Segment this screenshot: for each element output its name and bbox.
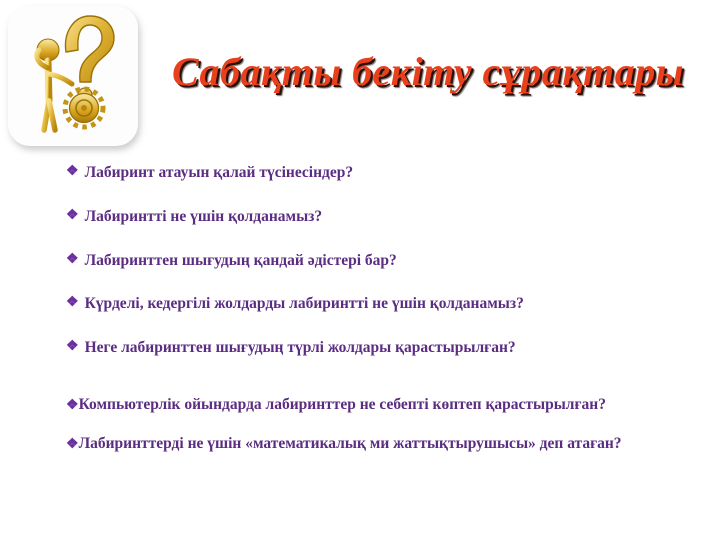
spacer: [66, 417, 676, 433]
gear-icon: [65, 89, 103, 127]
question-mark-shape: [66, 16, 114, 82]
list-item: ❖ Лабиринттен шығудың қандай әдістері ба…: [66, 251, 676, 271]
diamond-bullet-icon: ❖: [66, 207, 79, 225]
question-list: ❖ Лабиринт атауын қалай түсінесіндер? ❖ …: [66, 163, 676, 455]
question-text: Лабиринттен шығудың қандай әдістері бар?: [85, 251, 676, 271]
diamond-bullet-icon: ❖: [66, 338, 79, 356]
list-item: ❖ Лабиринт атауын қалай түсінесіндер?: [66, 163, 676, 183]
question-text: Лабиринтті не үшін қолданамыз?: [85, 207, 676, 227]
question-text: Лабиринттерді не үшін «математикалық ми …: [79, 435, 622, 452]
list-item: ❖Компьютерлік ойындарда лабиринттер не с…: [66, 394, 676, 416]
diamond-bullet-icon: ❖: [66, 163, 79, 181]
question-text: Неге лабиринттен шығудың түрлі жолдары қ…: [85, 338, 676, 358]
diamond-bullet-icon: ❖: [66, 398, 79, 413]
slide-canvas: Сабақты бекіту сұрақтары ❖ Лабиринт атау…: [0, 0, 720, 540]
question-text: Компьютерлік ойындарда лабиринттер не се…: [79, 396, 606, 413]
diamond-bullet-icon: ❖: [66, 294, 79, 312]
thinking-person-question-mark-icon: [8, 6, 138, 146]
list-item: ❖ Лабиринтті не үшін қолданамыз?: [66, 207, 676, 227]
list-item: ❖ Неге лабиринттен шығудың түрлі жолдары…: [66, 338, 676, 358]
slide-title: Сабақты бекіту сұрақтары: [150, 48, 706, 95]
question-text: Күрделі, кедергілі жолдарды лабиринтті н…: [85, 294, 676, 314]
list-item: ❖Лабиринттерді не үшін «математикалық ми…: [66, 433, 676, 455]
spacer: [66, 382, 676, 394]
diamond-bullet-icon: ❖: [66, 437, 79, 452]
question-illustration-card: [8, 6, 138, 146]
list-item: ❖ Күрделі, кедергілі жолдарды лабиринтті…: [66, 294, 676, 314]
question-text: Лабиринт атауын қалай түсінесіндер?: [85, 163, 676, 183]
diamond-bullet-icon: ❖: [66, 251, 79, 269]
